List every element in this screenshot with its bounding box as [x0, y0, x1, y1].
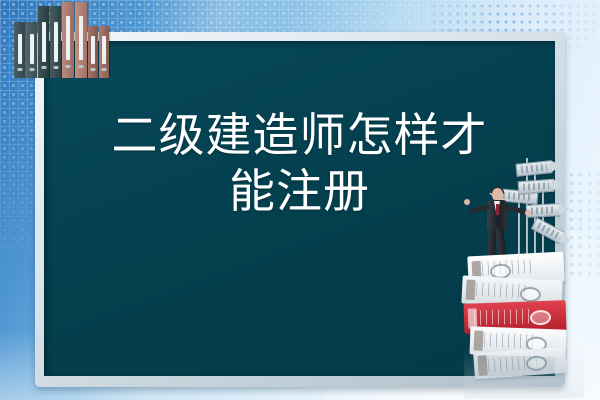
- upright-binder-row: [14, 0, 104, 78]
- binder-3-dark: [38, 6, 49, 78]
- signpost-low-right: [526, 203, 561, 218]
- binder-1-teal: [14, 22, 25, 78]
- binder-6-brown: [75, 2, 87, 78]
- binder-7-brown: [88, 26, 98, 78]
- tie: [496, 204, 499, 215]
- binder-5-brown: [62, 2, 74, 78]
- right-hand: [525, 210, 531, 216]
- left-hand: [464, 199, 470, 205]
- binder-4-dark: [50, 6, 61, 78]
- businessman-figure: [470, 188, 522, 260]
- binder-2-teal: [26, 22, 37, 78]
- signpost-top-right: [515, 160, 552, 177]
- binder-stack-illustration: [458, 150, 600, 400]
- signpost-mid-right: [518, 179, 555, 194]
- binder-8-brown: [99, 26, 109, 78]
- banner-image: 二级建造师怎样才能注册: [0, 0, 600, 400]
- stack-reflection: [464, 346, 584, 398]
